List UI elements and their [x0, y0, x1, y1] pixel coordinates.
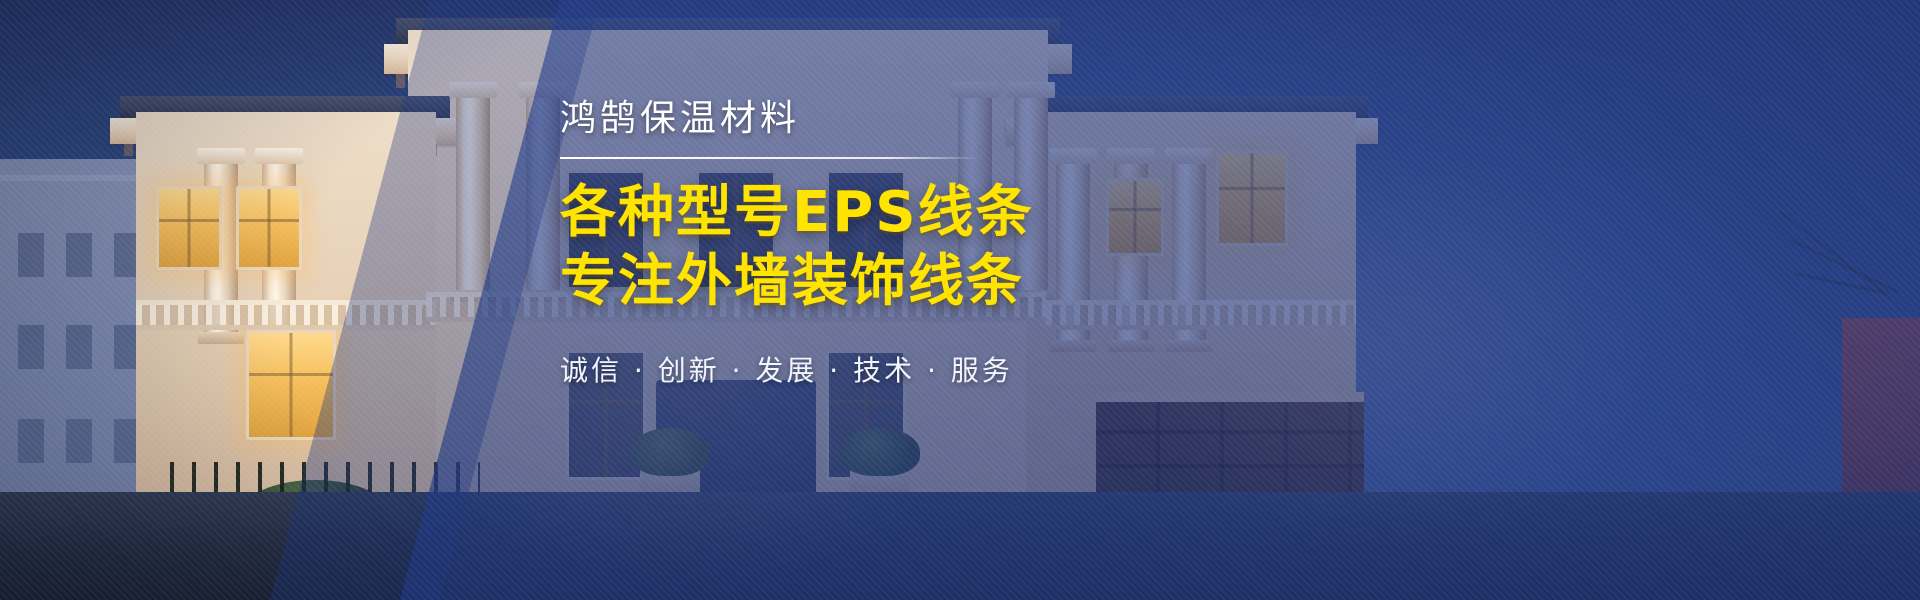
headline-line-1: 各种型号EPS线条	[560, 181, 1200, 246]
banner-text-block: 鸿鹄保温材料 各种型号EPS线条 专注外墙装饰线条 诚信 · 创新 · 发展 ·…	[560, 96, 1200, 389]
headline-line-2: 专注外墙装饰线条	[560, 250, 1200, 315]
tagline: 诚信 · 创新 · 发展 · 技术 · 服务	[560, 349, 1200, 389]
promo-banner: 鸿鹄保温材料 各种型号EPS线条 专注外墙装饰线条 诚信 · 创新 · 发展 ·…	[0, 0, 1920, 600]
brand-name: 鸿鹄保温材料	[560, 96, 1200, 141]
divider-rule	[560, 157, 980, 159]
